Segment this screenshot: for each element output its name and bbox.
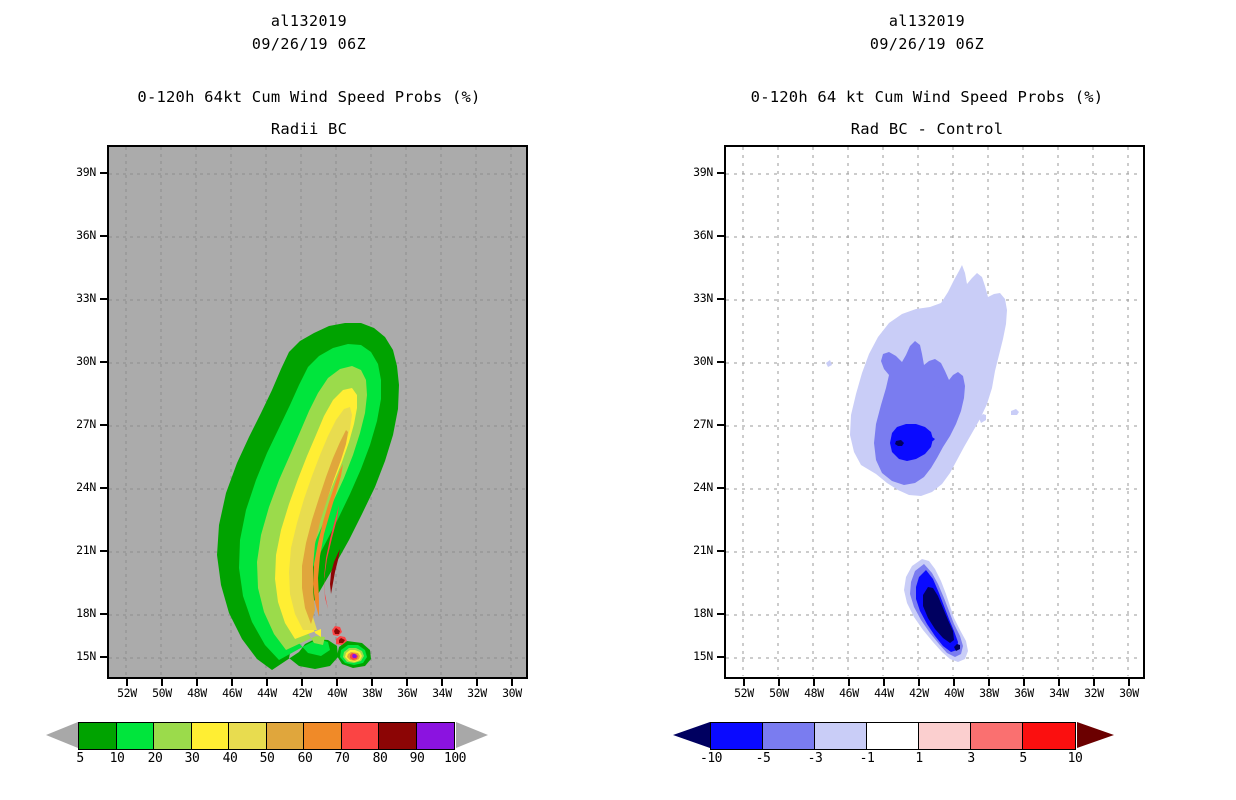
y-tick — [100, 656, 107, 658]
y-tick — [100, 298, 107, 300]
colorbar-cell — [379, 723, 417, 749]
colorbar-rad-bc-control: -10 -5 -3 -1 1 3 5 10 — [618, 715, 1236, 775]
x-tick-label: 36W — [1004, 686, 1044, 700]
colorbar-cell — [229, 723, 267, 749]
y-tick — [717, 550, 724, 552]
colorbar-cell — [815, 723, 867, 749]
y-tick — [100, 424, 107, 426]
contour-plot-rad-bc-control — [726, 147, 1142, 676]
x-tick-label: 30W — [1109, 686, 1149, 700]
x-tick-label: 34W — [1039, 686, 1079, 700]
x-tick — [301, 679, 303, 686]
colorbar-cell — [763, 723, 815, 749]
y-tick-label: 27N — [62, 417, 96, 431]
x-tick-label: 30W — [492, 686, 532, 700]
y-tick — [100, 550, 107, 552]
colorbar-cell — [267, 723, 305, 749]
x-tick-label: 52W — [107, 686, 147, 700]
y-tick-label: 33N — [62, 291, 96, 305]
colorbar-cell — [971, 723, 1023, 749]
x-tick-label: 36W — [387, 686, 427, 700]
x-tick — [126, 679, 128, 686]
y-tick-label: 24N — [62, 480, 96, 494]
y-tick-label: 18N — [679, 606, 713, 620]
x-tick-label: 44W — [247, 686, 287, 700]
y-tick-label: 33N — [679, 291, 713, 305]
x-tick-label: 42W — [282, 686, 322, 700]
panel-left-storm-id: al132019 — [0, 12, 618, 30]
y-tick — [717, 361, 724, 363]
x-tick — [1128, 679, 1130, 686]
y-tick-label: 36N — [62, 228, 96, 242]
x-tick — [406, 679, 408, 686]
y-tick — [717, 298, 724, 300]
contour-plot-radii-bc — [109, 147, 525, 676]
x-tick — [953, 679, 955, 686]
y-tick-label: 21N — [679, 543, 713, 557]
y-tick — [717, 487, 724, 489]
x-tick — [231, 679, 233, 686]
colorbar-cell — [919, 723, 971, 749]
colorbar-tick-label: 5 — [1000, 751, 1046, 766]
x-tick — [371, 679, 373, 686]
y-tick-label: 21N — [62, 543, 96, 557]
x-tick — [476, 679, 478, 686]
colorbar-cell — [342, 723, 380, 749]
x-tick — [778, 679, 780, 686]
y-tick — [717, 235, 724, 237]
x-tick — [743, 679, 745, 686]
y-tick — [717, 656, 724, 658]
colorbar-cell — [417, 723, 455, 749]
x-tick-label: 32W — [1074, 686, 1114, 700]
colorbar-tick-label: 100 — [432, 751, 478, 766]
panel-right-datetime: 09/26/19 06Z — [618, 35, 1236, 53]
x-tick-label: 46W — [212, 686, 252, 700]
x-tick-label: 44W — [864, 686, 904, 700]
x-tick-label: 40W — [317, 686, 357, 700]
contour-tail-fragments — [332, 626, 347, 645]
y-tick-label: 18N — [62, 606, 96, 620]
x-tick — [1023, 679, 1025, 686]
colorbar-over-arrow — [1077, 722, 1114, 748]
plot-area-radii-bc — [107, 145, 528, 679]
colorbar-tick-label: -1 — [844, 751, 890, 766]
x-tick-label: 50W — [142, 686, 182, 700]
panel-left-datetime: 09/26/19 06Z — [0, 35, 618, 53]
colorbar-tick-label: 1 — [896, 751, 942, 766]
x-tick-label: 40W — [934, 686, 974, 700]
y-tick — [100, 361, 107, 363]
colorbar-cell — [304, 723, 342, 749]
x-tick — [813, 679, 815, 686]
y-tick — [717, 424, 724, 426]
colorbar-cell — [117, 723, 155, 749]
colorbar-cell — [154, 723, 192, 749]
colorbar-over-arrow — [456, 722, 488, 748]
colorbar-tick-label: -5 — [740, 751, 786, 766]
y-tick-label: 39N — [679, 165, 713, 179]
panel-radii-bc: al132019 09/26/19 06Z 0-120h 64kt Cum Wi… — [0, 0, 618, 800]
y-tick-label: 24N — [679, 480, 713, 494]
x-tick — [266, 679, 268, 686]
colorbar-cell — [867, 723, 919, 749]
colorbar-cell — [192, 723, 230, 749]
colorbar-tick-label: 3 — [948, 751, 994, 766]
colorbar-cell — [79, 723, 117, 749]
x-tick — [196, 679, 198, 686]
plot-area-rad-bc-control — [724, 145, 1145, 679]
x-tick-label: 38W — [969, 686, 1009, 700]
y-tick-label: 15N — [679, 649, 713, 663]
colorbar-tick-label: -3 — [792, 751, 838, 766]
colorbar-tick-label: -10 — [688, 751, 734, 766]
colorbar-cell — [1023, 723, 1075, 749]
x-tick — [918, 679, 920, 686]
y-tick-label: 30N — [62, 354, 96, 368]
panel-right-storm-id: al132019 — [618, 12, 1236, 30]
colorbar-under-arrow — [673, 722, 710, 748]
y-tick — [100, 613, 107, 615]
x-tick — [441, 679, 443, 686]
panel-left-subtitle: Radii BC — [0, 120, 618, 138]
y-tick — [100, 172, 107, 174]
y-tick — [100, 487, 107, 489]
x-tick — [161, 679, 163, 686]
y-tick — [717, 172, 724, 174]
y-tick-label: 15N — [62, 649, 96, 663]
colorbar-under-arrow — [46, 722, 78, 748]
x-tick-label: 38W — [352, 686, 392, 700]
x-tick — [1058, 679, 1060, 686]
colorbar-swatches — [710, 722, 1076, 750]
colorbar-radii-bc: 5 10 20 30 40 50 60 70 80 90 100 — [0, 715, 618, 775]
contour-tip-cluster — [337, 641, 371, 668]
panel-right-subtitle: Rad BC - Control — [618, 120, 1236, 138]
x-tick-label: 46W — [829, 686, 869, 700]
colorbar-cell — [711, 723, 763, 749]
panel-left-title: 0-120h 64kt Cum Wind Speed Probs (%) — [0, 88, 618, 106]
x-tick-label: 50W — [759, 686, 799, 700]
y-tick — [717, 613, 724, 615]
x-tick — [883, 679, 885, 686]
x-tick-label: 48W — [794, 686, 834, 700]
colorbar-tick-label: 10 — [1052, 751, 1098, 766]
y-tick — [100, 235, 107, 237]
x-tick — [511, 679, 513, 686]
x-tick — [1093, 679, 1095, 686]
diff-blob-lower — [904, 559, 968, 662]
x-tick — [336, 679, 338, 686]
y-tick-label: 36N — [679, 228, 713, 242]
x-tick-label: 52W — [724, 686, 764, 700]
x-tick-label: 48W — [177, 686, 217, 700]
x-tick-label: 42W — [899, 686, 939, 700]
x-tick-label: 32W — [457, 686, 497, 700]
panel-rad-bc-control: al132019 09/26/19 06Z 0-120h 64 kt Cum W… — [618, 0, 1236, 800]
colorbar-swatches — [78, 722, 455, 750]
panel-right-title: 0-120h 64 kt Cum Wind Speed Probs (%) — [618, 88, 1236, 106]
y-tick-label: 30N — [679, 354, 713, 368]
y-tick-label: 39N — [62, 165, 96, 179]
x-tick — [848, 679, 850, 686]
x-tick — [988, 679, 990, 686]
y-tick-label: 27N — [679, 417, 713, 431]
x-tick-label: 34W — [422, 686, 462, 700]
